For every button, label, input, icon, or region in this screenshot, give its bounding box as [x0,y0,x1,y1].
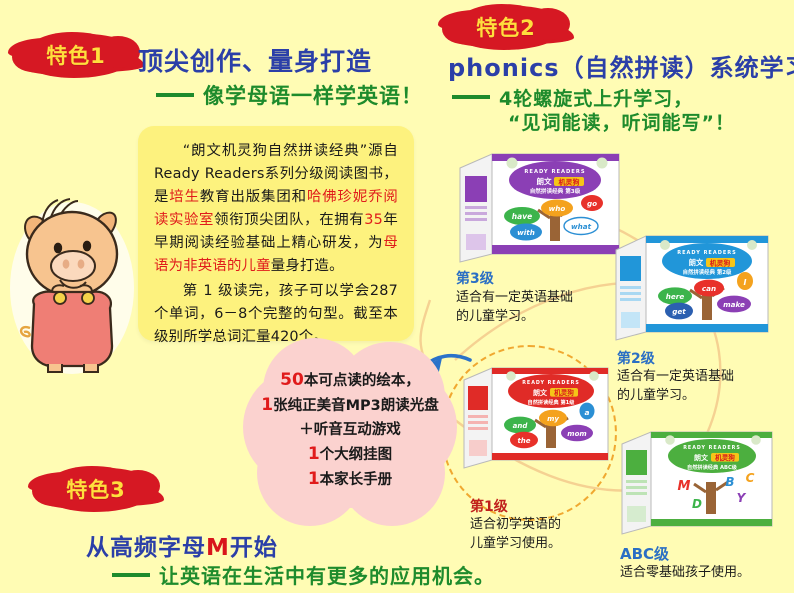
svg-text:自然拼读经典 第2级: 自然拼读经典 第2级 [683,268,732,276]
level3-label: 第3级 [456,268,494,288]
svg-text:my: my [547,415,559,423]
svg-text:and: and [513,422,529,430]
product-box-level2[interactable]: READY READERS 朗文 机灵狗 自然拼读经典 第2级 here can… [608,228,776,344]
feature-1-subheading-text: 像学母语一样学英语！ [203,84,423,108]
svg-text:M: M [678,479,691,494]
feature-3-heading-before: 从高频字母 [86,535,206,561]
dash-rule-icon [112,573,150,577]
level2-label: 第2级 [617,348,655,368]
dash-rule-icon [156,93,194,97]
svg-text:机灵狗: 机灵狗 [715,453,735,462]
product-box-level3[interactable]: READY READERS 朗文 机灵狗 自然拼读经典 第3级 have who… [452,146,627,266]
feature-3-subheading: 让英语在生活中有更多的应用机会。 [112,560,495,589]
abc-label: ABC级 [620,543,669,564]
contents-line-5-num: 1 [308,469,320,489]
svg-text:自然拼读经典 第3级: 自然拼读经典 第3级 [530,187,581,195]
svg-text:READY READERS: READY READERS [524,169,585,175]
svg-text:have: have [512,212,532,221]
desc-seg-1: 培生 [169,189,200,205]
contents-line-1-text: 本可点读的绘本， [304,373,420,389]
feature-2-heading: phonics（自然拼读）系统学习 [448,48,794,83]
svg-text:who: who [549,204,566,213]
level1-box-art: READY READERS 朗文 机灵狗 自然拼读经典 第1级 and my a… [456,360,616,472]
product-box-level1[interactable]: READY READERS 朗文 机灵狗 自然拼读经典 第1级 and my a… [456,360,616,472]
svg-text:can: can [702,284,716,293]
contents-line-2-num: 1 [261,395,273,415]
feature-2-subheading-line1: 4轮螺旋式上升学习， [452,84,693,111]
svg-text:with: with [517,228,535,237]
svg-text:自然拼读经典 第1级: 自然拼读经典 第1级 [528,398,576,406]
svg-text:READY READERS: READY READERS [683,445,741,451]
svg-text:朗文: 朗文 [537,176,552,186]
contents-line-4-text: 个大纲挂图 [320,447,393,463]
level2-desc-line2: 的儿童学习。 [617,386,734,405]
level3-desc-line2: 的儿童学习。 [456,307,573,326]
contents-line-1: 50本可点读的绘本， [243,368,457,393]
level1-description: 适合初学英语的 儿童学习使用。 [470,515,561,553]
dash-rule-icon [452,95,490,99]
desc-seg-2: 教育出版集团和 [200,189,307,205]
contents-line-1-num: 50 [280,370,304,390]
contents-line-5-text: 本家长手册 [320,472,393,488]
level1-label: 第1级 [470,496,508,516]
level3-box-art: READY READERS 朗文 机灵狗 自然拼读经典 第3级 have who… [452,146,627,266]
contents-line-4-num: 1 [308,444,320,464]
level3-desc-line1: 适合有一定英语基础 [456,288,573,307]
svg-text:机灵狗: 机灵狗 [554,388,574,397]
svg-text:C: C [746,471,755,485]
feature-3-subheading-text: 让英语在生活中有更多的应用机会。 [159,564,495,588]
feature-3-heading-after: 开始 [230,535,278,561]
desc-seg-4: 领衔顶尖团队，在拥有 [214,212,364,228]
desc-seg-8: 量身打造。 [271,258,344,274]
product-box-abc[interactable]: READY READERS 朗文 机灵狗 自然拼读经典 ABC级 M B C D… [614,424,780,538]
svg-text:D: D [692,497,702,511]
feature-1-badge-label: 特色1 [46,40,106,70]
feature-1-subheading: 像学母语一样学英语！ [156,80,423,110]
contents-line-4: 1个大纲挂图 [243,442,457,467]
svg-text:get: get [672,307,686,316]
feature-2-badge-label: 特色2 [476,12,536,42]
contents-line-5: 1本家长手册 [243,467,457,492]
level2-box-art: READY READERS 朗文 机灵狗 自然拼读经典 第2级 here can… [608,228,776,344]
level3-description: 适合有一定英语基础 的儿童学习。 [456,288,573,326]
contents-line-2-text: 张纯正美音MP3朗读光盘 [273,398,439,414]
abc-description: 适合零基础孩子使用。 [620,563,750,582]
feature-3-badge: 特色3 [42,466,150,512]
contents-line-3-text: ＋听音互动游戏 [299,422,401,438]
feature-3-heading-highlight: M [206,535,230,561]
description-paragraph-1: “朗文机灵狗自然拼读经典”源自Ready Readers系列分级阅读图书，是培生… [154,140,398,278]
contents-line-3: ＋听音互动游戏 [243,418,457,442]
pig-mascot-illustration [8,196,136,376]
svg-text:B: B [725,475,734,489]
svg-text:the: the [517,437,530,445]
feature-2-subheading-line2: “见词能读，听词能写”！ [508,108,735,135]
level2-description: 适合有一定英语基础 的儿童学习。 [617,367,734,405]
level2-desc-line1: 适合有一定英语基础 [617,367,734,386]
svg-text:mom: mom [567,430,586,438]
feature-3-badge-label: 特色3 [66,474,126,504]
svg-text:朗文: 朗文 [689,258,704,267]
svg-text:READY READERS: READY READERS [522,380,580,386]
feature-2-badge: 特色2 [452,4,560,50]
svg-text:朗文: 朗文 [533,388,548,397]
svg-text:here: here [666,292,685,301]
contents-list: 50本可点读的绘本， 1张纯正美音MP3朗读光盘 ＋听音互动游戏 1个大纲挂图 … [243,368,457,492]
svg-text:自然拼读经典 ABC级: 自然拼读经典 ABC级 [687,463,738,471]
svg-text:机灵狗: 机灵狗 [710,259,731,268]
feature-1-badge: 特色1 [22,32,130,78]
svg-text:I: I [744,278,747,287]
feature-2-subheading-line1-text: 4轮螺旋式上升学习， [499,88,693,110]
desc-seg-5: 35 [364,212,383,228]
level1-desc-line2: 儿童学习使用。 [470,534,561,553]
abc-desc-line1: 适合零基础孩子使用。 [620,563,750,582]
abc-box-art: READY READERS 朗文 机灵狗 自然拼读经典 ABC级 M B C D… [614,424,780,538]
svg-text:go: go [587,199,597,208]
svg-text:make: make [723,300,745,309]
svg-text:a: a [585,408,590,417]
description-card: “朗文机灵狗自然拼读经典”源自Ready Readers系列分级阅读图书，是培生… [138,126,414,341]
feature-1-heading: 顶尖创作、量身打造 [138,42,372,78]
poster-canvas: 特色1 顶尖创作、量身打造 像学母语一样学英语！ “朗文机灵狗自然拼读经典”源自… [0,0,794,593]
svg-text:READY READERS: READY READERS [677,250,736,256]
svg-text:Y: Y [737,491,747,505]
contents-line-2: 1张纯正美音MP3朗读光盘 [243,393,457,418]
level1-desc-line1: 适合初学英语的 [470,515,561,534]
svg-text:机灵狗: 机灵狗 [559,178,580,187]
svg-text:朗文: 朗文 [694,453,709,462]
svg-text:what: what [571,222,592,231]
